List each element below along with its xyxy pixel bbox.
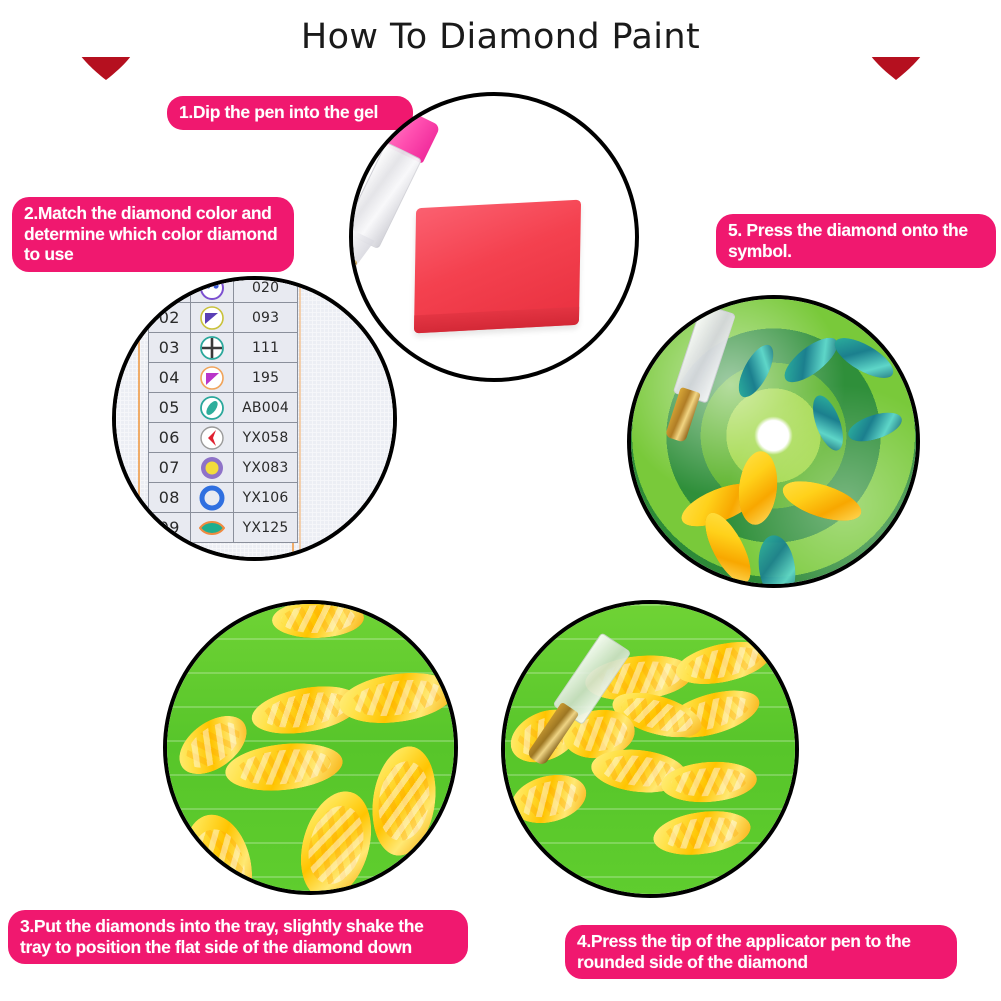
row-number: 04	[149, 363, 191, 393]
step-5-label: 5. Press the diamond onto the symbol.	[716, 214, 996, 268]
step-4-label: 4.Press the tip of the applicator pen to…	[565, 925, 957, 979]
row-symbol	[190, 303, 234, 333]
triangle-icon	[199, 365, 225, 391]
row-number: 03	[149, 333, 191, 363]
row-number: 07	[149, 453, 191, 483]
page-title: How To Diamond Paint	[0, 17, 1001, 57]
pen-picking-diamond-photo	[501, 600, 799, 898]
row-code: 020	[234, 276, 298, 303]
row-number: 05	[149, 393, 191, 423]
table-row: 07 YX083	[149, 453, 298, 483]
row-number: 01	[149, 276, 191, 303]
arrow-left-icon	[199, 425, 225, 451]
table-row: 09 YX125	[149, 513, 298, 543]
diamond-pressed-canvas-photo	[627, 295, 920, 588]
pen-body	[349, 142, 422, 249]
row-code: 195	[234, 363, 298, 393]
table-row: 08 YX106	[149, 483, 298, 513]
color-chart-photo: 01 020 02	[112, 276, 397, 561]
table-row: 01 020	[149, 276, 298, 303]
row-symbol	[190, 363, 234, 393]
table-row: 06 YX058	[149, 423, 298, 453]
plus-icon	[199, 335, 225, 361]
row-symbol	[190, 393, 234, 423]
double-dot-icon	[199, 276, 225, 301]
leaf-icon	[199, 515, 225, 541]
triangle-icon	[199, 305, 225, 331]
pen-tip	[665, 387, 701, 443]
diamonds-in-tray-photo	[163, 600, 458, 895]
row-symbol	[190, 333, 234, 363]
sheet-margin-line	[138, 280, 140, 557]
infographic-canvas: How To Diamond Paint 1.Dip the pen into …	[0, 0, 1001, 1001]
row-number: 02	[149, 303, 191, 333]
ring-icon	[199, 485, 225, 511]
row-symbol	[190, 453, 234, 483]
row-code: YX058	[234, 423, 298, 453]
row-code: YX125	[234, 513, 298, 543]
row-code: 111	[234, 333, 298, 363]
sheet-margin-line	[299, 280, 301, 557]
row-number: 08	[149, 483, 191, 513]
color-code-table: 01 020 02	[148, 276, 298, 543]
step-3-label: 3.Put the diamonds into the tray, slight…	[8, 910, 468, 964]
filled-circle-icon	[199, 455, 225, 481]
row-code: 093	[234, 303, 298, 333]
gel-pad	[414, 200, 581, 334]
slash-oval-icon	[199, 395, 225, 421]
row-symbol	[190, 276, 234, 303]
row-number: 09	[149, 513, 191, 543]
row-symbol	[190, 513, 234, 543]
row-code: AB004	[234, 393, 298, 423]
header: How To Diamond Paint	[0, 0, 1001, 80]
step-2-label: 2.Match the diamond color and determine …	[12, 197, 294, 272]
table-row: 05 AB004	[149, 393, 298, 423]
page-title-text: How To Diamond Paint	[285, 17, 716, 57]
table-row: 03 111	[149, 333, 298, 363]
table-row: 02 093	[149, 303, 298, 333]
row-code: YX083	[234, 453, 298, 483]
row-symbol	[190, 423, 234, 453]
row-number: 06	[149, 423, 191, 453]
row-code: YX106	[234, 483, 298, 513]
row-symbol	[190, 483, 234, 513]
table-row: 04 195	[149, 363, 298, 393]
